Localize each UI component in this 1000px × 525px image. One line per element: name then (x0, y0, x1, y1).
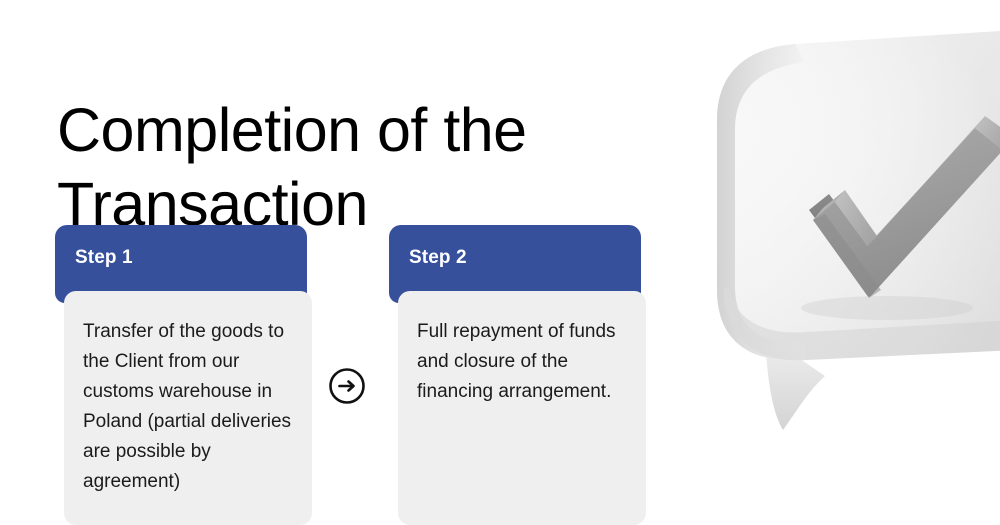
step-card-1-body: Transfer of the goods to the Client from… (64, 291, 312, 525)
page-title: Completion of the Transaction (57, 93, 657, 241)
speech-bubble-checkmark-3d-icon (655, 0, 1000, 490)
step-card-2-body: Full repayment of funds and closure of t… (398, 291, 646, 525)
step-card-2-header-label: Step 2 (409, 247, 467, 269)
step-card-1-body-text: Transfer of the goods to the Client from… (83, 317, 294, 497)
step-card-2-body-text: Full repayment of funds and closure of t… (417, 317, 628, 407)
arrow-right-circle-icon (327, 366, 367, 406)
slide-canvas: Completion of the Transaction Step 1 Tra… (0, 0, 1000, 525)
step-card-1-header-label: Step 1 (75, 247, 133, 269)
